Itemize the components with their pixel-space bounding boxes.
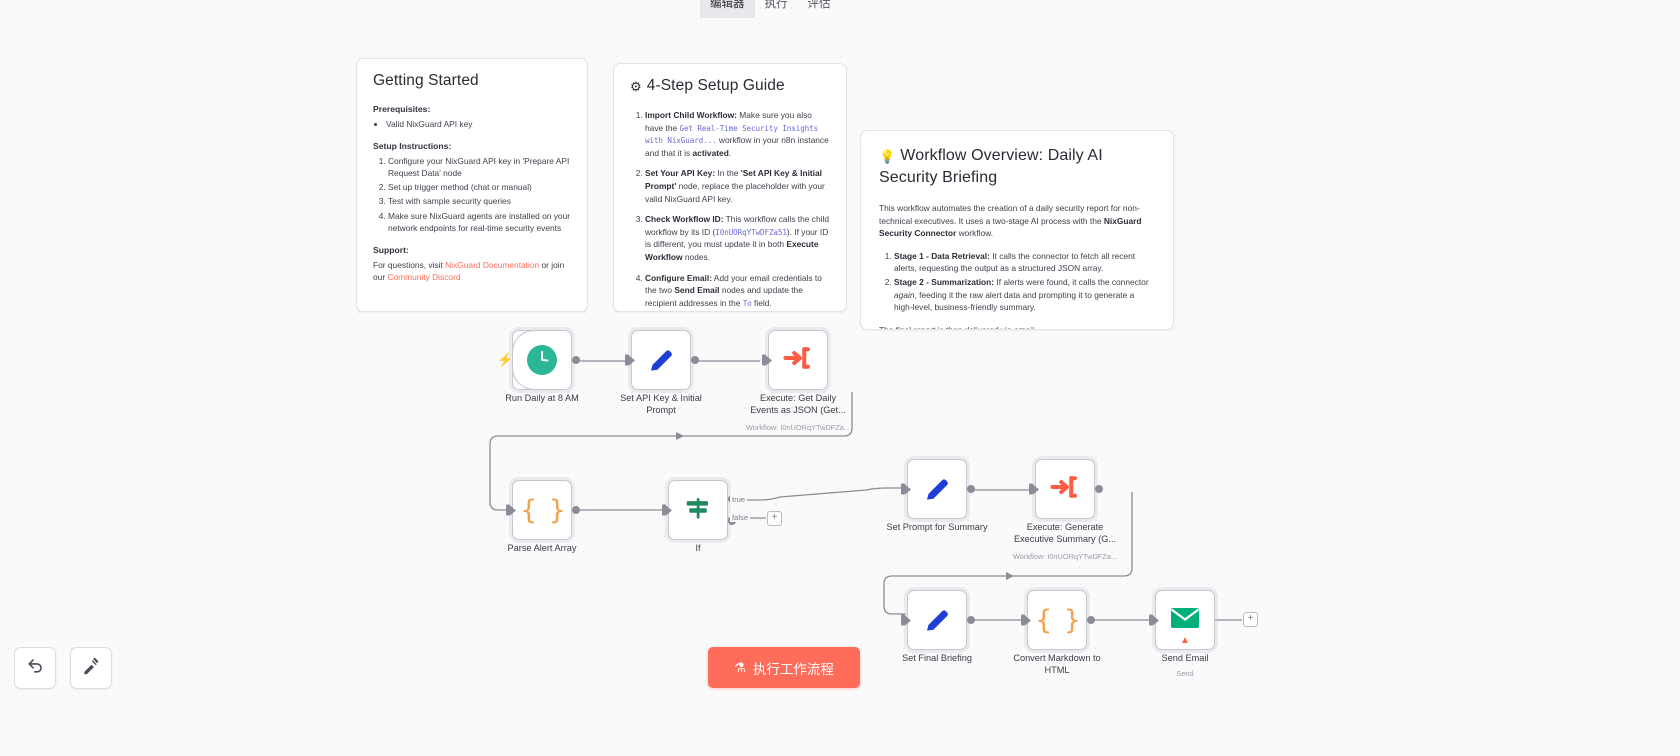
sticky-title-workflow-overview: 💡Workflow Overview: Daily AI Security Br… [879,145,1155,188]
output-port[interactable] [1087,616,1095,624]
pencil-icon [922,474,952,504]
node-set-api-key-and-initial-prompt[interactable]: Set API Key & Initial Prompt [631,330,691,390]
input-port[interactable] [625,355,629,366]
input-port[interactable] [901,615,905,626]
tidy-up-button[interactable] [70,647,112,689]
step-2-bold: Set Your API Key: [645,168,715,178]
undo-button[interactable] [14,647,56,689]
step-3-text-c: nodes. [683,252,710,262]
output-port[interactable] [691,356,699,364]
sticky-note-workflow-overview[interactable]: 💡Workflow Overview: Daily AI Security Br… [860,130,1174,330]
setup-instructions-heading: Setup Instructions: [373,141,571,151]
node-label: Execute: Generate Executive Summary (G..… [1013,522,1117,546]
undo-icon [26,656,45,680]
gear-icon: ⚙ [630,79,642,94]
output-port[interactable] [967,485,975,493]
step-4-bold-b: Send Email [674,285,719,295]
input-port[interactable] [1029,484,1033,495]
step-1-bold-b: activated [693,148,729,158]
node-label: Convert Markdown to HTML [1005,653,1109,677]
add-node-button-after-send-email[interactable]: + [1243,612,1258,627]
sticky-note-getting-started[interactable]: Getting Started Prerequisites: Valid Nix… [356,58,588,312]
input-port[interactable] [662,505,666,516]
intro-text-b: workflow. [956,228,993,238]
execute-workflow-icon [1050,472,1080,507]
email-icon [1170,606,1200,635]
node-subtitle: Workflow: I0nUORqYTwDFZa... [742,423,854,432]
code-icon: { } [521,497,564,524]
list-item: Stage 2 - Summarization: If alerts were … [894,276,1155,314]
list-item: Stage 1 - Data Retrieval: It calls the c… [894,250,1155,275]
support-prefix: For questions, visit [373,260,445,270]
node-subtitle: Send [1129,669,1241,678]
step-3-workflow-id: I0nUORqYTwDFZa51 [715,228,787,237]
list-item: Configure your NixGuard API key in 'Prep… [388,155,571,180]
setup-guide-title-text: 4-Step Setup Guide [647,77,785,94]
execute-workflow-label: 执行工作流程 [753,658,834,678]
sticky-title-setup-guide: ⚙4-Step Setup Guide [630,77,830,95]
node-label: Execute: Get Daily Events as JSON (Get..… [746,393,850,417]
edge-label-false: false [730,513,750,522]
step-1-bold: Import Child Workflow: [645,110,737,120]
edge-send-email-stub [1214,618,1246,622]
prerequisites-list: Valid NixGuard API key [373,118,571,131]
stage-2-italic: again [894,290,915,300]
code-icon: { } [1036,607,1079,634]
node-label: Set API Key & Initial Prompt [609,393,713,417]
workflow-overview-intro: This workflow automates the creation of … [879,202,1155,239]
node-set-prompt-for-summary[interactable]: Set Prompt for Summary [907,459,967,519]
intro-text-a: This workflow automates the creation of … [879,203,1140,225]
node-convert-markdown-to-html[interactable]: { } Convert Markdown to HTML [1027,590,1087,650]
add-node-button-false-branch[interactable]: + [767,511,782,526]
node-label: Run Daily at 8 AM [490,393,594,405]
sticky-note-setup-guide[interactable]: ⚙4-Step Setup Guide Import Child Workflo… [613,63,847,312]
list-item: Set up trigger method (chat or manual) [388,181,571,194]
node-label: Set Prompt for Summary [885,522,989,534]
node-if[interactable]: If [668,480,728,540]
pencil-icon [922,605,952,635]
workflow-overview-title-text: Workflow Overview: Daily AI Security Bri… [879,147,1103,186]
step-1-text-c: . [729,148,731,158]
node-send-email[interactable]: ▲ Send Email Send [1155,590,1215,650]
input-port[interactable] [1149,615,1153,626]
list-item: Valid NixGuard API key [386,118,571,131]
workflow-overview-footer: The final report is then delivered via e… [879,324,1155,330]
prerequisites-heading: Prerequisites: [373,104,571,114]
node-execute-generate-executive-summary[interactable]: Execute: Generate Executive Summary (G..… [1035,459,1095,519]
list-item: Set Your API Key: In the 'Set API Key & … [645,167,830,205]
node-label: If [646,543,750,555]
tab-evaluations[interactable]: 评估 [798,0,841,18]
clock-icon [527,345,557,375]
support-text: For questions, visit NixGuard Documentat… [373,259,571,284]
execute-workflow-button[interactable]: ⚗ 执行工作流程 [708,647,860,688]
output-port[interactable] [572,356,580,364]
setup-instructions-list: Configure your NixGuard API key in 'Prep… [373,155,571,235]
edge-convert-markdown-to-send-email [1086,618,1156,622]
list-item: Test with sample security queries [388,195,571,208]
flask-icon: ⚗ [734,660,746,676]
sticky-title-getting-started: Getting Started [373,72,571,90]
node-subtitle: Workflow: I0nUORqYTwDFZa... [1009,552,1121,561]
list-item: Import Child Workflow: Make sure you als… [645,109,830,159]
stage-2-bold: Stage 2 - Summarization: [894,277,994,287]
step-3-bold: Check Workflow ID: [645,214,724,224]
community-discord-link[interactable]: Community Discord [387,272,460,282]
output-port[interactable] [1095,485,1103,493]
edge-parse-alert-array-to-if [570,508,674,512]
support-heading: Support: [373,245,571,255]
output-port[interactable] [967,616,975,624]
stage-2-text-a: If alerts were found, it calls the conne… [994,277,1149,287]
list-item: Check Workflow ID: This workflow calls t… [645,213,830,263]
workflow-stages-list: Stage 1 - Data Retrieval: It calls the c… [879,250,1155,315]
lightbulb-icon: 💡 [879,149,895,164]
output-port[interactable] [572,506,580,514]
tidy-up-icon [82,656,101,680]
step-4-bold: Configure Email: [645,273,712,283]
list-item: Make sure NixGuard agents are installed … [388,210,571,235]
nixguard-documentation-link[interactable]: NixGuard Documentation [445,260,539,270]
stage-2-text-b: , feeding it the raw alert data and prom… [894,290,1134,313]
tab-executions[interactable]: 执行 [755,0,798,18]
filter-icon [683,493,713,528]
pencil-icon [646,345,676,375]
edge-label-true: true [730,495,747,504]
node-label: Set Final Briefing [885,653,989,665]
stage-1-bold: Stage 1 - Data Retrieval: [894,251,990,261]
step-2-text-a: In the [715,168,741,178]
node-parse-alert-array[interactable]: { } Parse Alert Array [512,480,572,540]
lightning-bolt-icon: ⚡ [497,352,513,368]
step-4-code: To [743,299,752,308]
tab-editor[interactable]: 编辑器 [700,0,755,18]
node-execute-get-daily-events[interactable]: Execute: Get Daily Events as JSON (Get..… [768,330,828,390]
input-port[interactable] [506,505,510,516]
node-run-daily-at-8-am[interactable]: ⚡ Run Daily at 8 AM [512,330,572,390]
node-set-final-briefing[interactable]: Set Final Briefing [907,590,967,650]
node-label: Parse Alert Array [490,543,594,555]
list-item: Configure Email: Add your email credenti… [645,272,830,310]
input-port[interactable] [1021,615,1025,626]
execute-workflow-icon [783,343,813,378]
setup-guide-steps: Import Child Workflow: Make sure you als… [630,109,830,310]
step-4-text-c: field. [752,298,772,308]
warning-triangle-icon: ▲ [1180,636,1190,646]
input-port[interactable] [762,355,766,366]
input-port[interactable] [901,484,905,495]
node-label: Send Email [1133,653,1237,665]
editor-tab-strip: 编辑器 执行 评估 [700,0,870,18]
